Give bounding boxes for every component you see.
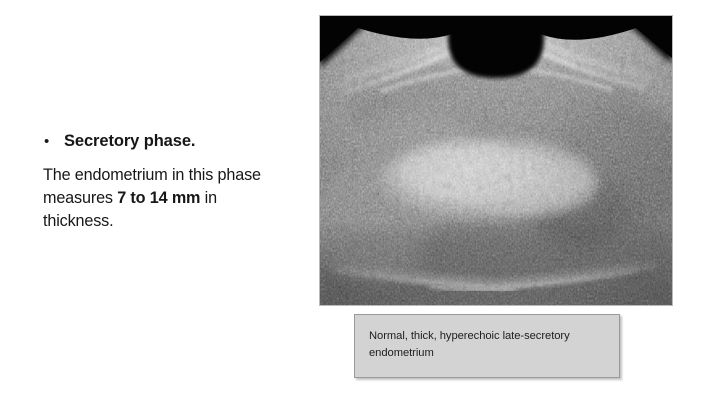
image-caption-text: Normal, thick, hyperechoic late-secretor…: [369, 328, 607, 362]
pelvic-ultrasound-image: [320, 16, 672, 305]
text-content-block: • Secretory phase. The endometrium in th…: [40, 132, 290, 233]
bullet-point-icon: •: [40, 134, 64, 149]
caption-line-1: Normal, thick, hyperechoic late-secretor…: [369, 330, 570, 342]
caption-line-2: endometrium: [369, 347, 434, 359]
bullet-list-item: • Secretory phase.: [40, 132, 290, 151]
slide-canvas: • Secretory phase. The endometrium in th…: [0, 0, 720, 404]
body-paragraph: The endometrium in this phase measures 7…: [40, 164, 271, 233]
image-caption-box: Normal, thick, hyperechoic late-secretor…: [354, 314, 620, 378]
bullet-heading: Secretory phase.: [64, 132, 195, 151]
ultrasound-sector: [320, 16, 672, 305]
ultrasound-graphic: [320, 16, 672, 305]
body-text-emphasis: 7 to 14 mm: [117, 189, 200, 207]
